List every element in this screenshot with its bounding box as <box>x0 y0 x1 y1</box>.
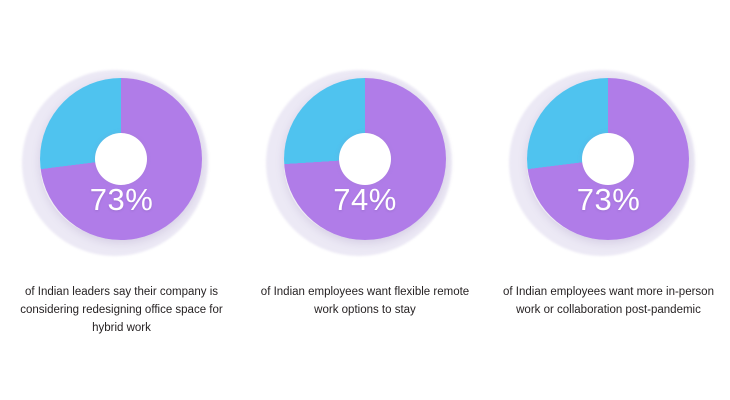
percent-value-1: 73% <box>0 182 243 218</box>
donut-chart-1: 73% <box>0 0 243 272</box>
donut-center-hole <box>582 133 634 185</box>
stat-caption-1: of Indian leaders say their company is c… <box>14 284 229 337</box>
percent-value-2: 74% <box>244 182 487 218</box>
donut-stats-infographic: 73% of Indian leaders say their company … <box>0 0 730 400</box>
donut-chart-2: 74% <box>244 0 487 272</box>
stat-caption-2: of Indian employees want flexible remote… <box>258 284 473 320</box>
donut-center-hole <box>95 133 147 185</box>
donut-center-hole <box>339 133 391 185</box>
stat-block-2: 74% of Indian employees want flexible re… <box>244 0 487 400</box>
donut-chart-3: 73% <box>487 0 730 272</box>
stat-block-3: 73% of Indian employees want more in-per… <box>487 0 730 400</box>
percent-value-3: 73% <box>487 182 730 218</box>
stat-block-1: 73% of Indian leaders say their company … <box>0 0 243 400</box>
stat-caption-3: of Indian employees want more in-person … <box>501 284 716 320</box>
